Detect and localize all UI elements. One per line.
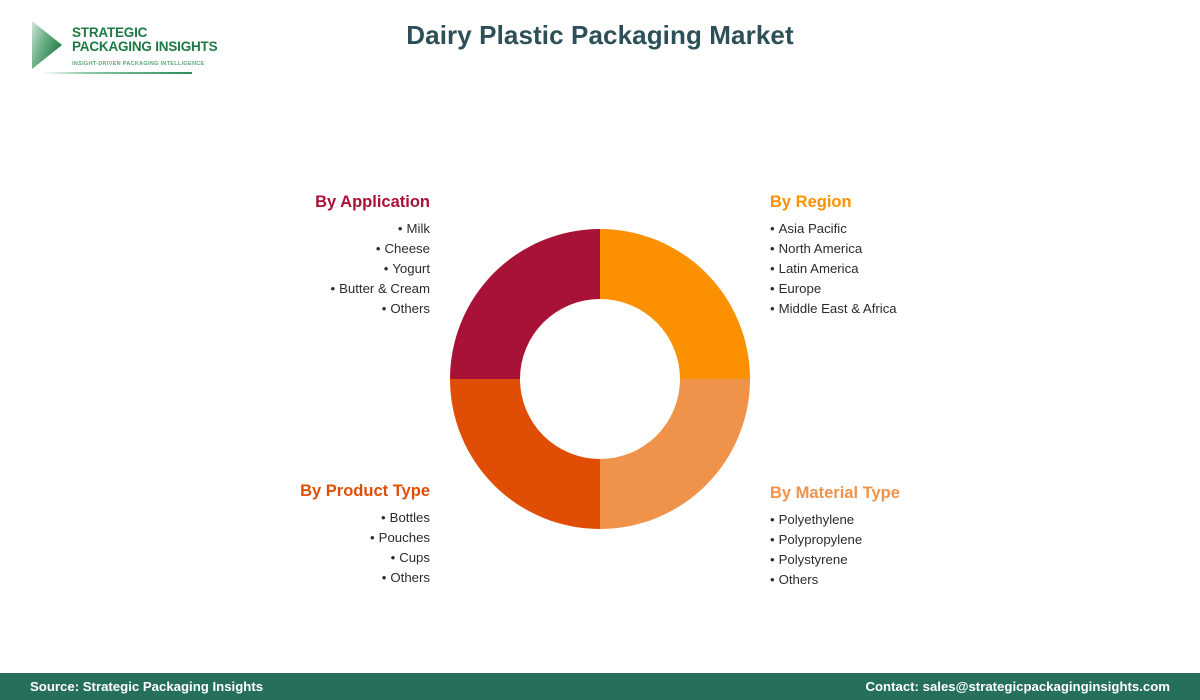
list-item-label: Europe — [779, 281, 822, 296]
list-item: •Latin America — [770, 259, 1000, 279]
donut-chart — [450, 229, 750, 529]
bullet-icon: • — [381, 510, 386, 525]
bullet-icon: • — [770, 261, 775, 276]
segment-group-product-type: By Product Type •Bottles •Pouches •Cups … — [200, 482, 430, 588]
footer-bar: Source: Strategic Packaging Insights Con… — [0, 673, 1200, 700]
bullet-icon: • — [770, 221, 775, 236]
list-item: •Others — [200, 299, 430, 319]
list-item-label: Yogurt — [392, 261, 430, 276]
bullet-icon: • — [770, 532, 775, 547]
bullet-icon: • — [382, 570, 387, 585]
list-item: •Butter & Cream — [200, 279, 430, 299]
page-title: Dairy Plastic Packaging Market — [0, 20, 1200, 51]
segment-title-region: By Region — [770, 193, 1000, 212]
logo-tagline: INSIGHT-DRIVEN PACKAGING INTELLIGENCE — [72, 61, 217, 67]
list-item: •Asia Pacific — [770, 219, 1000, 239]
bullet-icon: • — [770, 301, 775, 316]
list-item-label: Milk — [407, 221, 430, 236]
segment-title-material-type: By Material Type — [770, 484, 1000, 503]
segment-list-material-type: •Polyethylene •Polypropylene •Polystyren… — [770, 510, 1000, 590]
list-item-label: Latin America — [779, 261, 859, 276]
list-item: •Cups — [200, 548, 430, 568]
segment-list-product-type: •Bottles •Pouches •Cups •Others — [200, 508, 430, 588]
list-item-label: Bottles — [390, 510, 430, 525]
segment-group-application: By Application •Milk •Cheese •Yogurt •Bu… — [200, 193, 430, 319]
segment-list-application: •Milk •Cheese •Yogurt •Butter & Cream •O… — [200, 219, 430, 319]
segment-title-application: By Application — [200, 193, 430, 212]
bullet-icon: • — [770, 552, 775, 567]
bullet-icon: • — [382, 301, 387, 316]
donut-slice-application — [450, 229, 600, 379]
donut-slice-region — [600, 229, 750, 379]
list-item-label: Butter & Cream — [339, 281, 430, 296]
list-item: •Europe — [770, 279, 1000, 299]
segment-title-product-type: By Product Type — [200, 482, 430, 501]
list-item-label: Polypropylene — [779, 532, 863, 547]
logo-underline-divider — [40, 72, 192, 74]
bullet-icon: • — [770, 572, 775, 587]
list-item: •Cheese — [200, 239, 430, 259]
list-item-label: Polystyrene — [779, 552, 848, 567]
list-item: •Polypropylene — [770, 530, 1000, 550]
list-item: •Middle East & Africa — [770, 299, 1000, 319]
bullet-icon: • — [370, 530, 375, 545]
bullet-icon: • — [330, 281, 335, 296]
list-item: •North America — [770, 239, 1000, 259]
bullet-icon: • — [398, 221, 403, 236]
list-item-label: Asia Pacific — [779, 221, 847, 236]
bullet-icon: • — [770, 281, 775, 296]
bullet-icon: • — [384, 261, 389, 276]
footer-contact[interactable]: Contact: sales@strategicpackaginginsight… — [865, 679, 1170, 694]
list-item: •Others — [200, 568, 430, 588]
list-item: •Polystyrene — [770, 550, 1000, 570]
list-item-label: Others — [779, 572, 819, 587]
list-item-label: North America — [779, 241, 863, 256]
list-item: •Others — [770, 570, 1000, 590]
list-item-label: Others — [390, 570, 430, 585]
list-item-label: Middle East & Africa — [779, 301, 897, 316]
list-item-label: Cups — [399, 550, 430, 565]
donut-slice-material-type — [600, 379, 750, 529]
bullet-icon: • — [770, 512, 775, 527]
list-item-label: Pouches — [379, 530, 430, 545]
list-item: •Yogurt — [200, 259, 430, 279]
list-item: •Polyethylene — [770, 510, 1000, 530]
list-item-label: Cheese — [385, 241, 430, 256]
segment-group-region: By Region •Asia Pacific •North America •… — [770, 193, 1000, 319]
bullet-icon: • — [376, 241, 381, 256]
bullet-icon: • — [770, 241, 775, 256]
list-item: •Pouches — [200, 528, 430, 548]
list-item-label: Others — [390, 301, 430, 316]
list-item-label: Polyethylene — [779, 512, 855, 527]
list-item: •Milk — [200, 219, 430, 239]
bullet-icon: • — [391, 550, 396, 565]
segment-list-region: •Asia Pacific •North America •Latin Amer… — [770, 219, 1000, 319]
segment-group-material-type: By Material Type •Polyethylene •Polyprop… — [770, 484, 1000, 590]
list-item: •Bottles — [200, 508, 430, 528]
donut-slice-product-type — [450, 379, 600, 529]
footer-source: Source: Strategic Packaging Insights — [30, 679, 263, 694]
